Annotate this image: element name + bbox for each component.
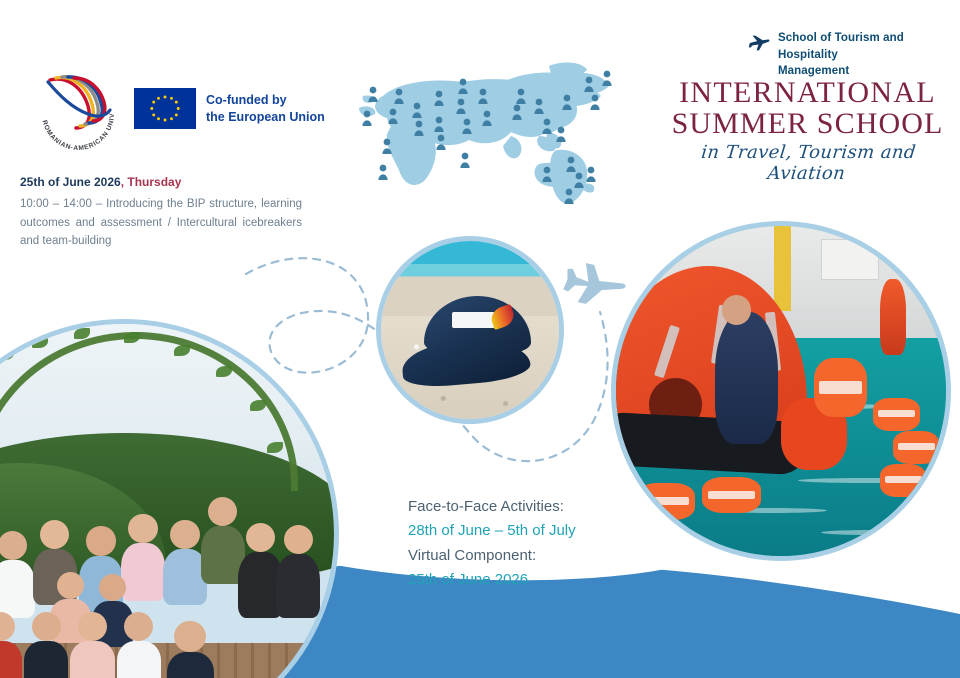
schedule-block: 25th of June 2026, Thursday 10:00 – 14:0… (20, 175, 302, 251)
schedule-description: 10:00 – 14:00 – Introducing the BIP stru… (20, 195, 302, 251)
european-union-flag (134, 88, 196, 129)
title-line-2: SUMMER SCHOOL (660, 109, 955, 140)
face-to-face-label: Face-to-Face Activities: (408, 495, 576, 519)
eu-text-line1: Co-funded by (206, 92, 325, 108)
eu-funding-text: Co-funded by the European Union (206, 92, 325, 125)
key-dates-block: Face-to-Face Activities: 28th of June – … (408, 495, 576, 592)
airplane-icon (748, 34, 770, 52)
poster-title: INTERNATIONAL SUMMER SCHOOL in Travel, T… (660, 78, 955, 184)
school-line-1: School of Tourism and Hospitality (778, 30, 958, 63)
photo-sea-survival (616, 226, 946, 556)
school-of-tourism-header: School of Tourism and Hospitality Manage… (748, 30, 958, 80)
virtual-component-label: Virtual Component: (408, 544, 576, 568)
european-union-logo: Co-funded by the European Union (134, 88, 325, 129)
romanian-american-university-logo: ROMANIAN-AMERICAN UNIVERSITY (32, 66, 124, 150)
schedule-date-heading: 25th of June 2026, Thursday (20, 175, 302, 189)
world-map-graphic (343, 52, 658, 212)
photo-branded-cap (381, 241, 559, 419)
title-line-1: INTERNATIONAL (660, 78, 955, 109)
face-to-face-value: 28th of June – 5th of July (408, 519, 576, 543)
poster-canvas: ROMANIAN-AMERICAN UNIVERSITY (0, 0, 960, 678)
photo-group-students (0, 324, 334, 678)
schedule-weekday-value: , Thursday (121, 175, 182, 189)
schedule-date-value: 25th of June 2026 (20, 175, 121, 189)
virtual-component-value: 25th of June 2026 (408, 568, 576, 592)
eu-text-line2: the European Union (206, 109, 325, 125)
title-script-subtitle: in Travel, Tourism and Aviation (658, 142, 957, 184)
school-name-text: School of Tourism and Hospitality Manage… (778, 30, 958, 80)
